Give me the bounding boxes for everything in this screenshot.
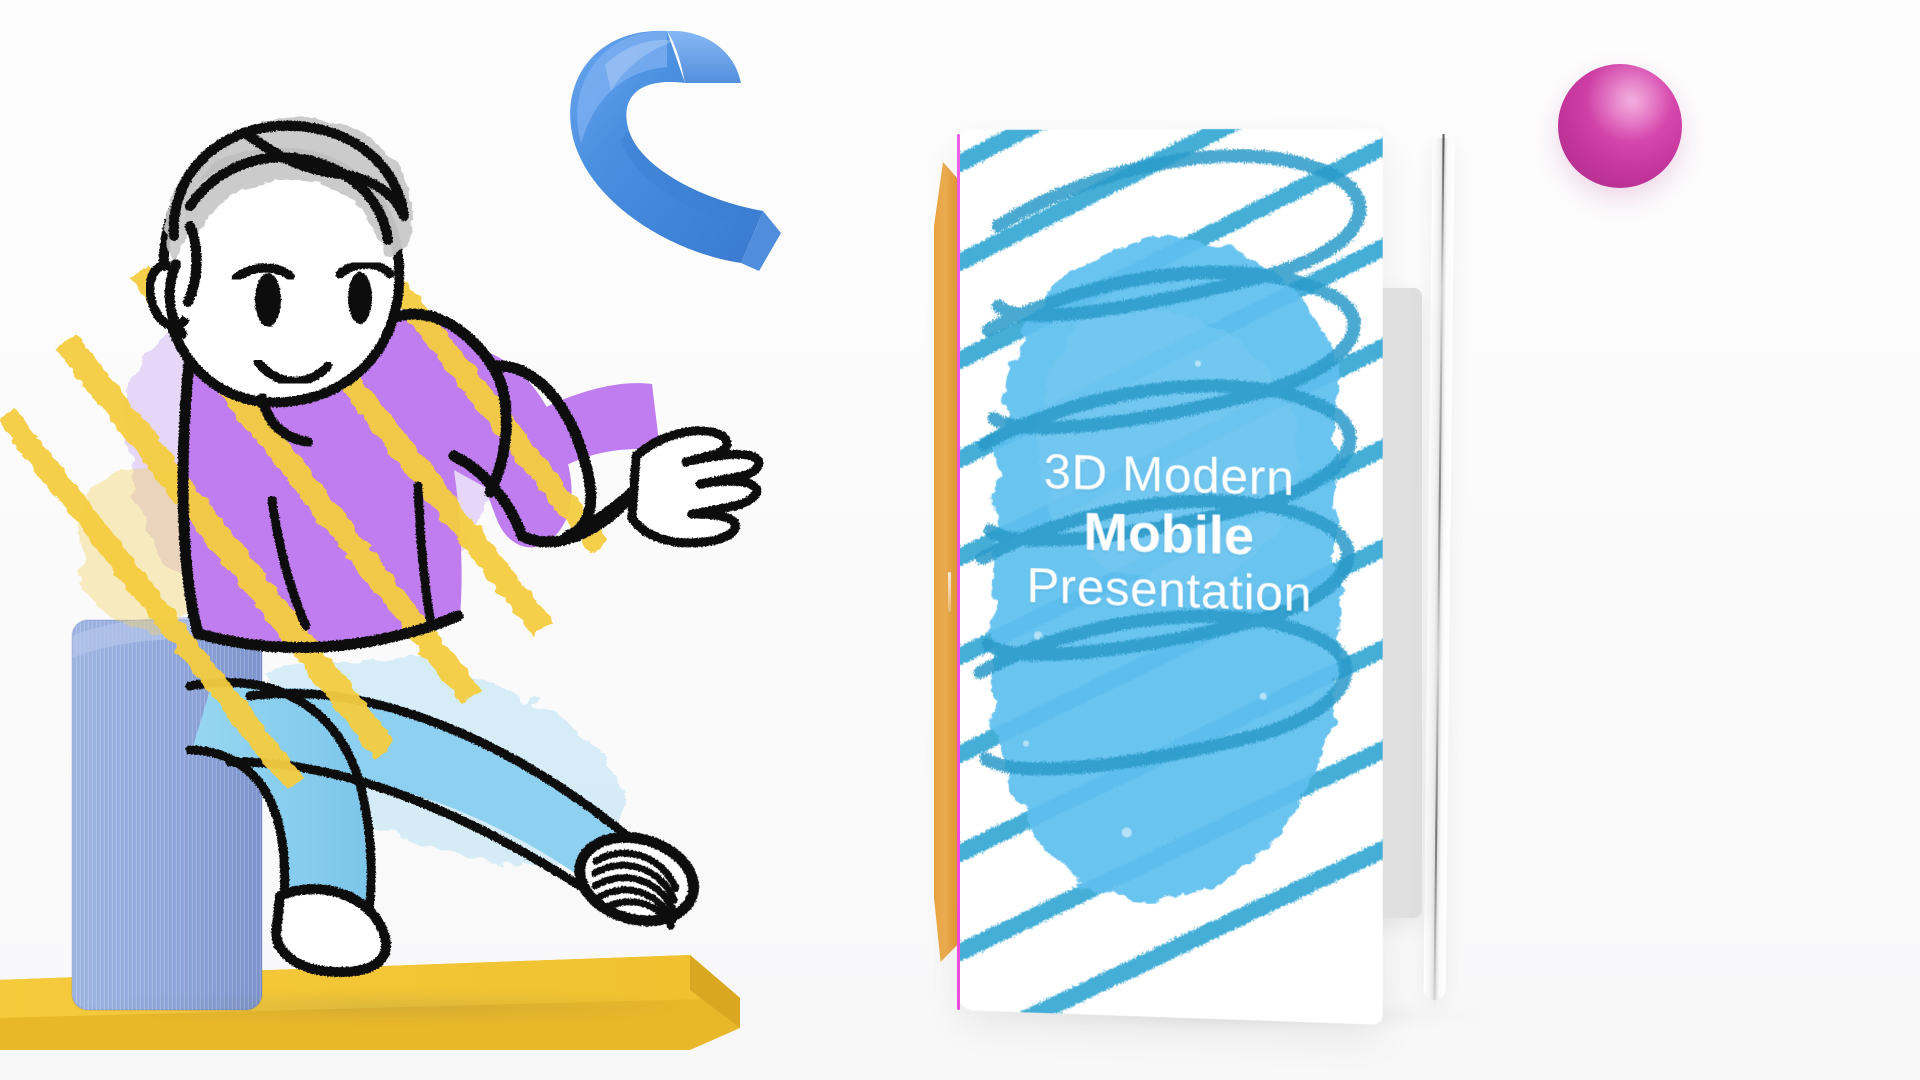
magenta-accent-rail	[957, 134, 960, 1010]
spine-notch	[948, 572, 951, 612]
phone-screen[interactable]: 3D Modern Mobile Presentation	[958, 129, 1383, 1025]
scene-canvas: 3D Modern Mobile Presentation	[0, 0, 1920, 1080]
seated-character-illustration	[40, 50, 770, 1080]
phone-headline: 3D Modern Mobile Presentation	[958, 445, 1383, 625]
phone-mockup[interactable]: 3D Modern Mobile Presentation	[930, 120, 1530, 1020]
headline-line-2: Mobile	[958, 501, 1383, 570]
back-silver-sheet	[1423, 138, 1454, 1000]
character-ground-shadow	[90, 990, 690, 1024]
headline-line-1: 3D Modern	[958, 445, 1383, 509]
pink-sphere-decoration	[1558, 64, 1682, 188]
